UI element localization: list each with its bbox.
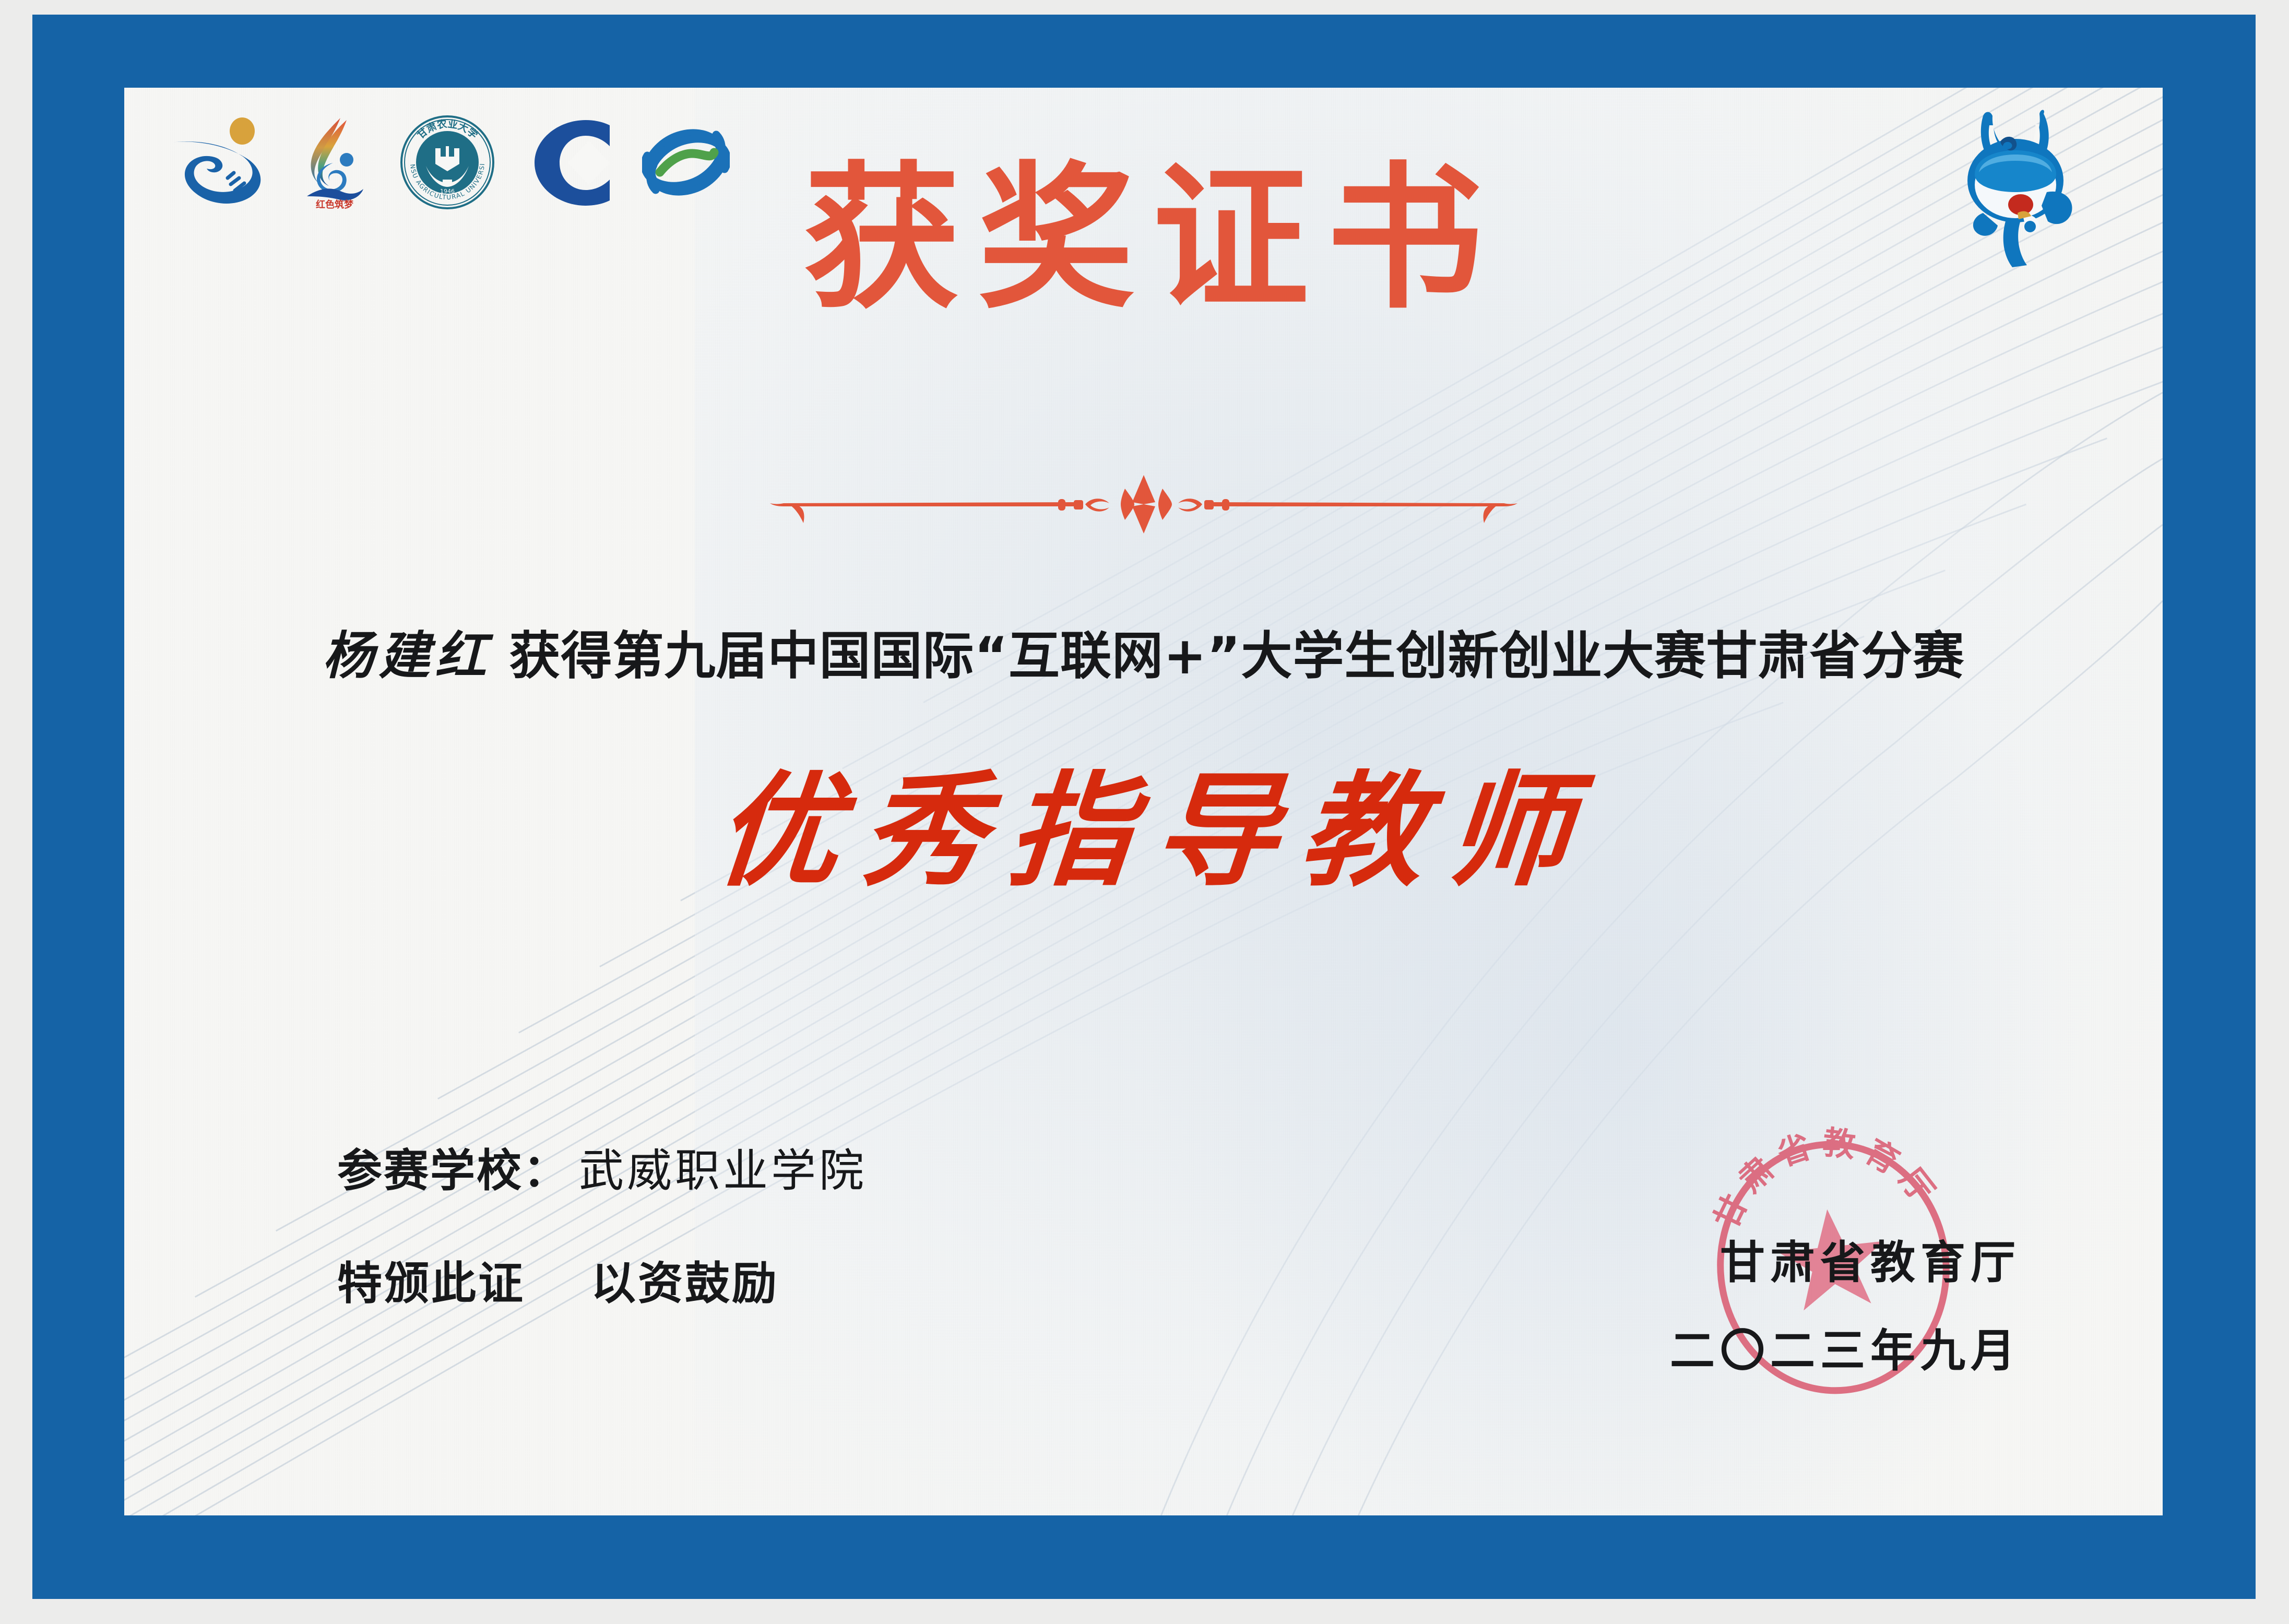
award-name: 优秀指导教师 bbox=[124, 766, 2163, 896]
certificate-title: 获奖证书 bbox=[124, 157, 2163, 321]
grant-statement-part2: 以资鼓励 bbox=[591, 1258, 779, 1310]
issue-date: 二〇二三年九月 bbox=[1624, 1314, 2021, 1379]
citation-text: 获得第九届中国国际“互联网+”大学生创新创业大赛甘肃省分赛 bbox=[509, 626, 1965, 686]
issuer-organization: 甘肃省教育厅 bbox=[1624, 1226, 2021, 1291]
ornamental-divider bbox=[763, 473, 1525, 536]
participating-school-label: 参赛学校： bbox=[337, 1145, 570, 1197]
participating-school-value: 武威职业学院 bbox=[579, 1145, 867, 1197]
grant-statement-part1: 特颁此证 bbox=[337, 1258, 525, 1310]
citation-line: 杨建红获得第九届中国国际“互联网+”大学生创新创业大赛甘肃省分赛 bbox=[187, 625, 2100, 687]
participating-school-line: 参赛学校：武威职业学院 bbox=[337, 1134, 867, 1199]
recipient-name: 杨建红 bbox=[323, 626, 492, 686]
certificate-page: 红色筑梦 1946 甘肃农业大学 bbox=[0, 0, 2289, 1624]
certificate-blue-frame: 红色筑梦 1946 甘肃农业大学 bbox=[32, 15, 2256, 1599]
certificate-inner-field: 红色筑梦 1946 甘肃农业大学 bbox=[124, 88, 2163, 1515]
issuer-block: 甘肃省教育厅 二〇二三年九月 bbox=[1624, 1226, 2021, 1379]
svg-text:甘肃省教育厅: 甘肃省教育厅 bbox=[1698, 1121, 1949, 1238]
grant-statement: 特颁此证 以资鼓励 bbox=[337, 1247, 779, 1312]
